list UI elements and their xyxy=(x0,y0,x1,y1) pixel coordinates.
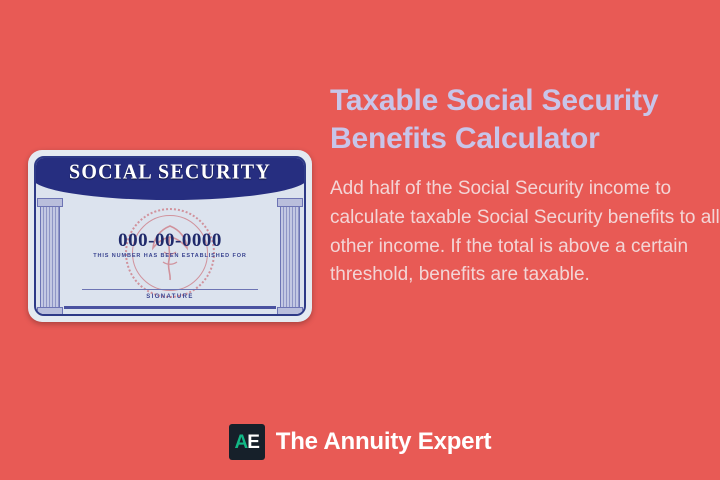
card-header-band: SOCIAL SECURITY xyxy=(34,156,306,200)
monogram-letter-a: A xyxy=(235,433,248,452)
brand-monogram-icon: AE xyxy=(229,424,265,460)
page-title: Taxable Social Security Benefits Calcula… xyxy=(330,82,720,159)
column-capital xyxy=(277,198,303,207)
column-base xyxy=(37,307,63,316)
column-capital xyxy=(37,198,63,207)
signature-label: SIGNATURE xyxy=(36,294,304,300)
column-base xyxy=(277,307,303,316)
card-face: SOCIAL SECURITY xyxy=(34,156,306,316)
signature-line xyxy=(82,289,258,290)
card-ssn-note: THIS NUMBER HAS BEEN ESTABLISHED FOR xyxy=(36,253,304,259)
social-security-card: SOCIAL SECURITY xyxy=(28,150,312,322)
card-outer-border: SOCIAL SECURITY xyxy=(28,150,312,322)
promo-banner: { "background_color": "#E85A55", "card":… xyxy=(0,0,720,480)
monogram-letter-e: E xyxy=(247,433,259,452)
card-bottom-rule xyxy=(64,306,276,309)
brand-name-text: The Annuity Expert xyxy=(276,428,492,456)
copy-block: Taxable Social Security Benefits Calcula… xyxy=(330,82,720,290)
brand-logo: AE The Annuity Expert xyxy=(0,424,720,460)
card-header-title: SOCIAL SECURITY xyxy=(34,160,306,184)
card-ssn-number: 000-00-0000 xyxy=(36,230,304,252)
description-text: Add half of the Social Security income t… xyxy=(330,175,720,291)
